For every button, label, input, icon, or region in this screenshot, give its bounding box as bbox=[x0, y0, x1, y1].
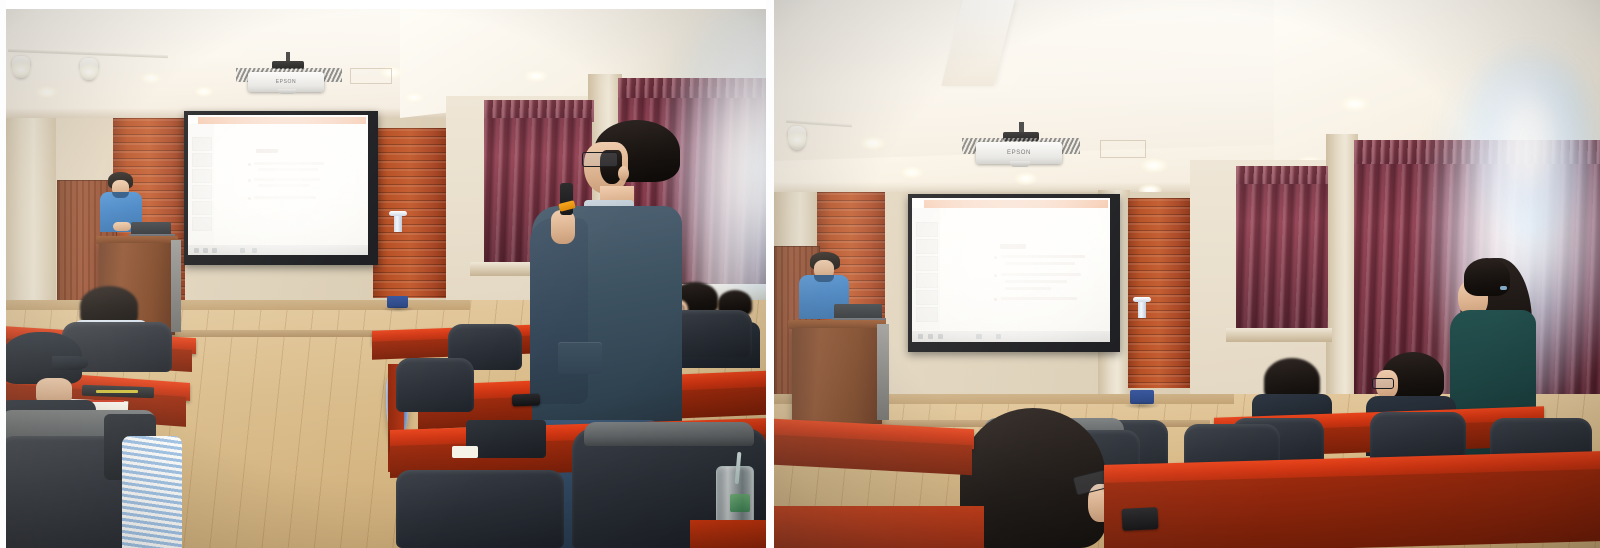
downlight-icon-r3 bbox=[1014, 172, 1038, 185]
paper-left bbox=[452, 446, 478, 458]
smartphone-left[interactable] bbox=[512, 394, 540, 407]
panel-left-top-border bbox=[0, 0, 766, 9]
track-light-glow-right bbox=[785, 132, 809, 148]
vase-lip-r bbox=[1133, 297, 1151, 302]
downlight-icon-r2 bbox=[900, 166, 924, 179]
desk-front-right-b-front bbox=[1104, 469, 1600, 548]
screen-glare-right bbox=[912, 198, 1110, 342]
downlight-icon-r1 bbox=[860, 136, 886, 150]
photo-panel-left: EPSON bbox=[0, 0, 766, 548]
chair-mid-b-left bbox=[670, 310, 752, 358]
projector-lens-left bbox=[278, 89, 296, 94]
podium-side-right bbox=[877, 324, 889, 420]
podium-side-left bbox=[171, 240, 181, 332]
vase-neck-r bbox=[1138, 300, 1146, 318]
vase-neck-left bbox=[394, 214, 402, 232]
ceiling-panel-joint-right bbox=[1100, 140, 1146, 158]
desk-front-right-c bbox=[774, 506, 984, 548]
track-light-glow-1 bbox=[9, 62, 33, 78]
questioner-blazer-pocket-left bbox=[558, 342, 602, 374]
smartphone-right[interactable] bbox=[1121, 507, 1158, 531]
audience-glasses-rr1[interactable] bbox=[1372, 378, 1394, 389]
screen-glare-left bbox=[188, 115, 368, 255]
wood-slat-panel-right-b bbox=[1128, 198, 1190, 388]
bag-on-desk-left bbox=[466, 420, 546, 458]
projection-screen-right bbox=[912, 198, 1110, 342]
downlight-icon-l3 bbox=[194, 86, 214, 97]
chair-mid-c-left bbox=[396, 358, 474, 412]
podium-right bbox=[792, 328, 882, 424]
audience-striped-shirt-left bbox=[122, 436, 182, 548]
chair-front-left-c bbox=[396, 470, 564, 548]
projector-lens-right bbox=[1010, 161, 1030, 167]
bottle-label-left bbox=[730, 494, 750, 512]
downlight-icon-l1 bbox=[36, 86, 58, 98]
remote-accent-left bbox=[96, 390, 138, 393]
vase-shadow-right bbox=[1124, 402, 1160, 409]
track-light-glow-2 bbox=[77, 64, 101, 80]
vase-shadow-left bbox=[382, 306, 414, 312]
questioner-hand-left bbox=[551, 210, 575, 244]
projection-screen-left bbox=[188, 115, 368, 255]
downlight-icon-l2 bbox=[140, 72, 162, 84]
questioner-ear-left bbox=[618, 166, 629, 181]
panel-divider bbox=[766, 0, 774, 548]
chair-front-left-d-pad bbox=[584, 422, 754, 446]
questioner-glasses-left[interactable] bbox=[582, 152, 618, 167]
woman-hairclip-icon-right bbox=[1500, 286, 1507, 290]
panel-left-left-border bbox=[0, 0, 6, 548]
downlight-icon-l5 bbox=[404, 92, 424, 103]
downlight-icon-r4 bbox=[1140, 158, 1168, 173]
wood-slat-panel-left-b bbox=[373, 128, 447, 298]
projector-brand-label-left: EPSON bbox=[248, 79, 324, 87]
photo-panel-right: EPSON bbox=[774, 0, 1600, 548]
curtain-right-a bbox=[1236, 184, 1328, 332]
questioner-blazer-arm-left bbox=[530, 218, 588, 404]
presenter-hands-left bbox=[113, 222, 131, 231]
vase-lip-left bbox=[389, 211, 407, 216]
downlight-icon-r8 bbox=[1340, 96, 1370, 112]
ceiling-panel-joint-left bbox=[350, 68, 392, 84]
woman-hair-front-right bbox=[1464, 258, 1510, 296]
photo-composite: EPSON bbox=[0, 0, 1600, 548]
audience-cap-brim-left bbox=[52, 356, 88, 370]
projector-brand-label-right: EPSON bbox=[976, 150, 1062, 159]
bottle-desk-left bbox=[690, 520, 766, 548]
window-sill-right-a bbox=[1226, 328, 1332, 342]
presenter-collar-right bbox=[814, 275, 834, 282]
downlight-icon-l7 bbox=[524, 70, 548, 82]
